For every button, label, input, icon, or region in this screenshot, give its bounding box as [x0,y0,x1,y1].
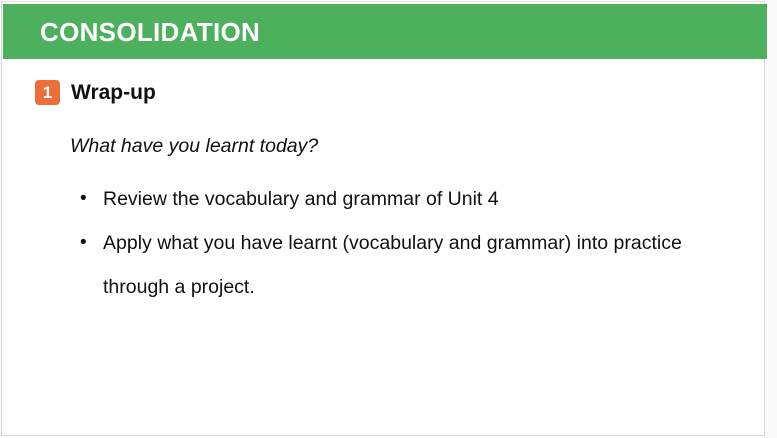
section-banner: CONSOLIDATION [3,4,767,59]
section-heading-label: Wrap-up [71,82,156,103]
list-item: • Review the vocabulary and grammar of U… [70,177,740,221]
list-item: • Apply what you have learnt (vocabulary… [70,221,723,309]
prompt-question: What have you learnt today? [70,137,318,157]
step-number-badge: 1 [35,80,60,105]
bullet-dot-icon: • [80,221,90,265]
list-item-text: Apply what you have learnt (vocabulary a… [103,232,682,298]
banner-title: CONSOLIDATION [40,19,260,45]
slide-canvas: CONSOLIDATION 1 Wrap-up What have you le… [0,0,777,438]
list-item-text: Review the vocabulary and grammar of Uni… [103,188,499,210]
slide-content: 1 Wrap-up What have you learnt today? • … [2,59,768,438]
section-heading: 1 Wrap-up [35,79,156,106]
bullet-dot-icon: • [80,177,90,221]
slide-frame: CONSOLIDATION 1 Wrap-up What have you le… [1,1,765,436]
objectives-list: • Review the vocabulary and grammar of U… [70,177,740,309]
